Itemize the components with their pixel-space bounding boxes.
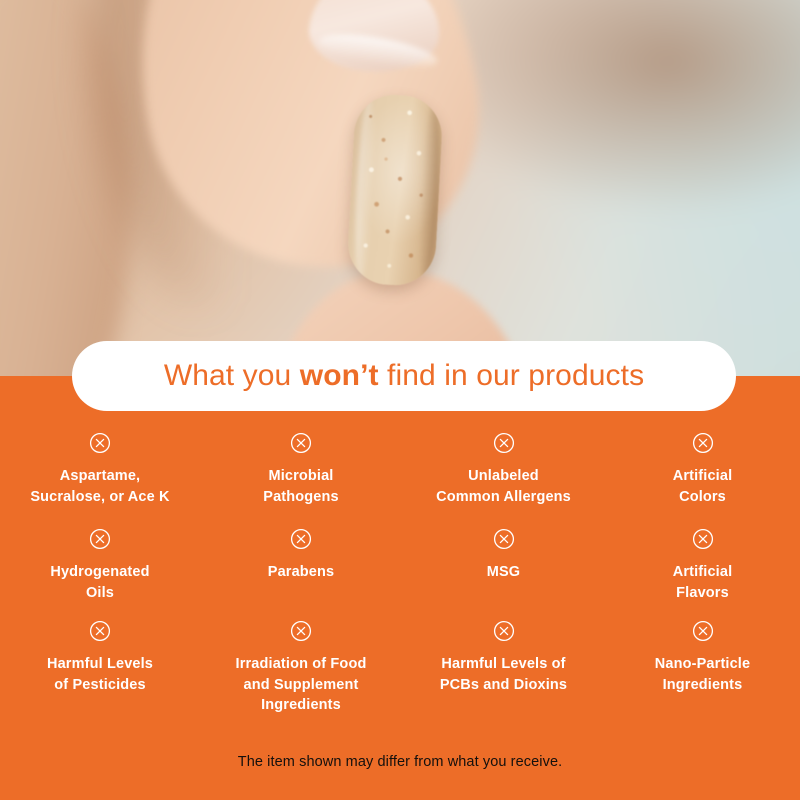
circle-x-icon [692, 528, 714, 550]
product-infographic: What you won’t find in our products Aspa… [0, 0, 800, 800]
exclusion-item: Parabens [200, 528, 402, 620]
exclusion-item-label: Irradiation of Food and Supplement Ingre… [236, 654, 367, 716]
title-emphasis: won’t [300, 359, 379, 392]
footer: The item shown may differ from what you … [0, 753, 800, 771]
product-photo [0, 0, 800, 377]
page-title: What you won’t find in our products [164, 359, 644, 393]
exclusion-item: Unlabeled Common Allergens [402, 432, 605, 528]
exclusion-item-label: Artificial Colors [673, 466, 733, 507]
exclusion-item-label: MSG [487, 562, 520, 583]
exclusion-item: Hydrogenated Oils [0, 528, 200, 620]
circle-x-icon [290, 432, 312, 454]
exclusion-item: Artificial Flavors [605, 528, 800, 620]
exclusion-item-label: Artificial Flavors [673, 562, 733, 603]
exclusion-item: Harmful Levels of Pesticides [0, 620, 200, 720]
exclusion-item-label: Microbial Pathogens [263, 466, 338, 507]
circle-x-icon [89, 432, 111, 454]
circle-x-icon [89, 528, 111, 550]
circle-x-icon [493, 528, 515, 550]
exclusion-item-label: Parabens [268, 562, 335, 583]
supplement-tablet [346, 93, 444, 287]
circle-x-icon [493, 432, 515, 454]
exclusions-grid: Aspartame, Sucralose, or Ace KMicrobial … [0, 432, 800, 720]
circle-x-icon [692, 620, 714, 642]
exclusion-item: Nano-Particle Ingredients [605, 620, 800, 720]
title-banner: What you won’t find in our products [72, 341, 736, 411]
exclusion-item-label: Unlabeled Common Allergens [436, 466, 571, 507]
circle-x-icon [493, 620, 515, 642]
exclusion-item-label: Hydrogenated Oils [50, 562, 149, 603]
circle-x-icon [290, 620, 312, 642]
exclusion-item-label: Harmful Levels of PCBs and Dioxins [440, 654, 567, 695]
title-suffix: find in our products [379, 359, 645, 392]
exclusion-item: Harmful Levels of PCBs and Dioxins [402, 620, 605, 720]
exclusion-item-label: Aspartame, Sucralose, or Ace K [30, 466, 169, 507]
exclusion-item: Microbial Pathogens [200, 432, 402, 528]
circle-x-icon [290, 528, 312, 550]
exclusion-item: Aspartame, Sucralose, or Ace K [0, 432, 200, 528]
exclusion-item: MSG [402, 528, 605, 620]
title-prefix: What you [164, 359, 300, 392]
exclusion-item-label: Harmful Levels of Pesticides [47, 654, 153, 695]
exclusion-item-label: Nano-Particle Ingredients [655, 654, 750, 695]
exclusion-item: Artificial Colors [605, 432, 800, 528]
disclaimer-text: The item shown may differ from what you … [238, 754, 562, 770]
exclusion-item: Irradiation of Food and Supplement Ingre… [200, 620, 402, 720]
circle-x-icon [89, 620, 111, 642]
circle-x-icon [692, 432, 714, 454]
